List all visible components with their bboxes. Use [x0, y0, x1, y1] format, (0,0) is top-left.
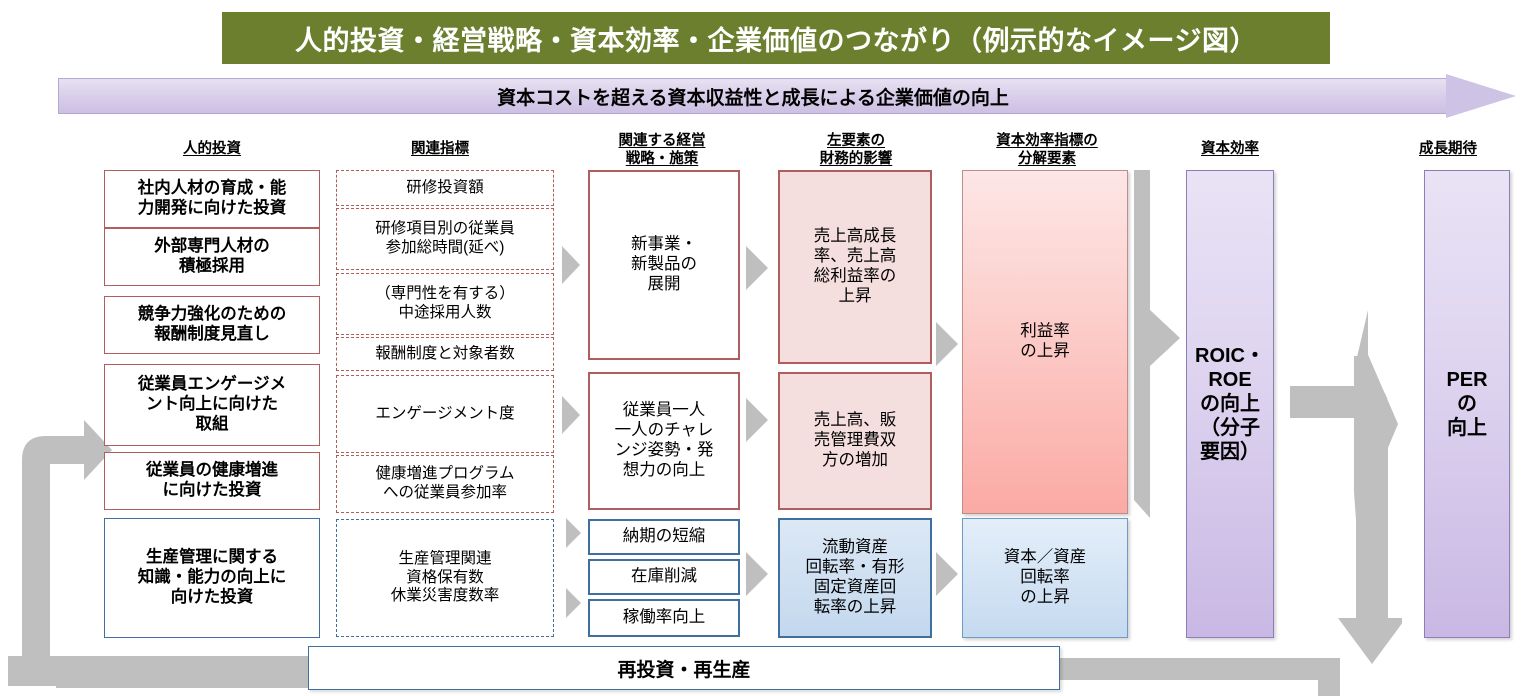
financial-impact-item-2-line3: 方の増加 — [822, 451, 888, 469]
indicator-item-7-line1: 生産管理関連 — [398, 550, 491, 567]
indicator-item-7-line3: 休業災害度数率 — [391, 587, 500, 604]
column-header-strategy-line2: 戦略・施策 — [588, 151, 736, 169]
chevron-icon-financial-to-decomposition-2 — [936, 552, 958, 596]
column-header-strategy-line1: 関連する経営 — [588, 133, 736, 151]
decomposition-item-2[interactable]: 資本／資産 回転率 の上昇 — [962, 518, 1128, 638]
financial-impact-item-3-line4: 転率の上昇 — [814, 598, 897, 616]
indicator-item-3[interactable]: （専門性を有する） 中途採用人数 — [336, 273, 554, 335]
growth-expectation-line3: 向上 — [1447, 417, 1487, 439]
growth-expectation-box[interactable]: PER の 向上 — [1424, 170, 1510, 638]
column-header-financial-impact-line2: 財務的影響 — [782, 151, 930, 169]
indicator-item-5[interactable]: エンゲージメント度 — [336, 375, 554, 453]
indicator-item-2-line2: 参加総時間(延べ) — [386, 239, 505, 256]
reinvest-label-box: 再投資・再生産 — [308, 646, 1060, 690]
top-banner-arrowhead — [1446, 74, 1516, 118]
chevron-icon-indicators-to-strategy-4 — [566, 588, 581, 618]
strategy-item-1-line3: 展開 — [648, 275, 681, 293]
human-capital-item-2[interactable]: 外部専門人材の 積極採用 — [104, 228, 320, 286]
capital-efficiency-line4: （分子 — [1200, 417, 1260, 439]
growth-expectation-line1: PER — [1446, 369, 1487, 391]
chevron-icon-strategy-to-financial-1 — [746, 246, 768, 290]
decomposition-item-1-line2: の上昇 — [1020, 342, 1070, 360]
human-capital-item-5-line2: に向けた投資 — [163, 481, 262, 499]
indicator-item-4-line1: 報酬制度と対象者数 — [337, 345, 553, 364]
strategy-item-5-line1: 稼働率向上 — [590, 608, 738, 628]
indicator-item-7-line2: 資格保有数 — [406, 569, 484, 586]
column-header-related-indicators: 関連指標 — [360, 141, 520, 159]
human-capital-item-6[interactable]: 生産管理に関する 知識・能力の向上に 向けた投資 — [104, 518, 320, 638]
page-title: 人的投資・経営戦略・資本効率・企業価値のつながり（例示的なイメージ図） — [222, 12, 1330, 64]
financial-impact-item-3-line2: 回転率・有形 — [806, 558, 905, 576]
financial-impact-item-2-line2: 売管理費双 — [814, 431, 897, 449]
strategy-item-1-line1: 新事業・ — [631, 235, 697, 253]
column-header-human-capital: 人的投資 — [132, 141, 292, 159]
growth-expectation-line2: の — [1457, 393, 1477, 415]
decomposition-item-2-line1: 資本／資産 — [1004, 548, 1087, 566]
human-capital-item-4-line3: 取組 — [196, 415, 229, 433]
financial-impact-item-3-line1: 流動資産 — [822, 538, 888, 556]
capital-efficiency-line1: ROIC・ — [1195, 345, 1265, 367]
page-title-text: 人的投資・経営戦略・資本効率・企業価値のつながり（例示的なイメージ図） — [295, 19, 1257, 58]
human-capital-item-3[interactable]: 競争力強化のための 報酬制度見直し — [104, 296, 320, 354]
indicator-item-2-line1: 研修項目別の従業員 — [375, 220, 515, 237]
indicator-item-7[interactable]: 生産管理関連 資格保有数 休業災害度数率 — [336, 519, 554, 637]
indicator-item-6-line1: 健康増進プログラム — [375, 465, 514, 482]
human-capital-item-6-line2: 知識・能力の向上に — [138, 568, 287, 586]
human-capital-item-1-line2: 力開発に向けた投資 — [138, 199, 287, 217]
column-header-capital-efficiency: 資本効率 — [1160, 141, 1300, 159]
financial-impact-item-2-line1: 売上高、販 — [814, 411, 897, 429]
indicator-item-2[interactable]: 研修項目別の従業員 参加総時間(延べ) — [336, 208, 554, 270]
strategy-item-4[interactable]: 在庫削減 — [588, 559, 740, 595]
financial-impact-item-1-line2: 率、売上高 — [814, 247, 897, 265]
chevron-icon-indicators-to-strategy-1 — [562, 246, 580, 284]
decomposition-item-2-line3: の上昇 — [1020, 588, 1070, 606]
human-capital-item-3-line1: 競争力強化のための — [138, 305, 287, 323]
indicator-item-5-line1: エンゲージメント度 — [337, 405, 553, 424]
column-header-decomposition-line1: 資本効率指標の — [962, 133, 1132, 151]
column-header-strategy: 関連する経営 戦略・施策 — [588, 133, 736, 168]
financial-impact-item-1-line4: 上昇 — [839, 287, 872, 305]
strategy-item-4-line1: 在庫削減 — [590, 567, 738, 587]
chevron-icon-financial-to-decomposition-1 — [936, 322, 958, 366]
human-capital-item-4[interactable]: 従業員エンゲージメ ント向上に向けた 取組 — [104, 364, 320, 446]
top-banner-body: 資本コストを超える資本収益性と成長による企業価値の向上 — [58, 78, 1448, 114]
indicator-item-6[interactable]: 健康増進プログラム への従業員参加率 — [336, 455, 554, 513]
human-capital-item-2-line1: 外部専門人材の — [154, 237, 270, 255]
human-capital-item-3-line2: 報酬制度見直し — [154, 325, 270, 343]
financial-impact-item-2[interactable]: 売上高、販 売管理費双 方の増加 — [778, 372, 932, 510]
strategy-item-2[interactable]: 従業員一人 一人のチャレ ンジ姿勢・発 想力の向上 — [588, 372, 740, 510]
human-capital-item-6-line1: 生産管理に関する — [146, 548, 278, 566]
chevron-icon-strategy-to-financial-2 — [746, 398, 768, 442]
financial-impact-item-1[interactable]: 売上高成長 率、売上高 総利益率の 上昇 — [778, 170, 932, 364]
reinvest-label-text: 再投資・再生産 — [617, 655, 750, 682]
strategy-item-2-line1: 従業員一人 — [623, 401, 706, 419]
financial-impact-item-3[interactable]: 流動資産 回転率・有形 固定資産回 転率の上昇 — [778, 518, 932, 638]
human-capital-item-6-line3: 向けた投資 — [171, 588, 254, 606]
indicator-item-3-line2: 中途採用人数 — [398, 304, 491, 321]
strategy-item-3[interactable]: 納期の短縮 — [588, 519, 740, 555]
capital-efficiency-line3: の向上 — [1200, 393, 1260, 415]
top-banner-arrow: 資本コストを超える資本収益性と成長による企業価値の向上 — [58, 74, 1516, 118]
capital-efficiency-line2: ROE — [1208, 369, 1251, 391]
indicator-item-1-line1: 研修投資額 — [337, 179, 553, 198]
decomposition-item-1[interactable]: 利益率 の上昇 — [962, 170, 1128, 514]
strategy-item-1-line2: 新製品の — [631, 255, 697, 273]
human-capital-item-4-line1: 従業員エンゲージメ — [138, 375, 286, 393]
column-header-growth-expectation: 成長期待 — [1388, 141, 1508, 159]
column-header-decomposition-line2: 分解要素 — [962, 151, 1132, 169]
bottom-right-loop-arrow — [1040, 648, 1370, 696]
human-capital-item-1-line1: 社内人材の育成・能 — [138, 179, 287, 197]
human-capital-item-4-line2: ント向上に向けた — [146, 395, 278, 413]
indicator-item-4[interactable]: 報酬制度と対象者数 — [336, 337, 554, 371]
decomposition-item-2-line2: 回転率 — [1020, 568, 1070, 586]
strategy-item-1[interactable]: 新事業・ 新製品の 展開 — [588, 170, 740, 360]
top-banner-label: 資本コストを超える資本収益性と成長による企業価値の向上 — [497, 83, 1009, 110]
human-capital-item-2-line2: 積極採用 — [179, 257, 245, 275]
indicator-item-1[interactable]: 研修投資額 — [336, 170, 554, 206]
strategy-item-2-line3: ンジ姿勢・発 — [615, 441, 714, 459]
financial-impact-item-1-line3: 総利益率の — [814, 267, 897, 285]
strategy-item-2-line2: 一人のチャレ — [615, 421, 714, 439]
indicator-item-3-line1: （専門性を有する） — [375, 285, 515, 302]
human-capital-item-5[interactable]: 従業員の健康増進 に向けた投資 — [104, 452, 320, 510]
financial-impact-item-3-line3: 固定資産回 — [814, 578, 897, 596]
indicator-item-6-line2: への従業員参加率 — [383, 484, 507, 501]
strategy-item-2-line4: 想力の向上 — [623, 461, 706, 479]
chevron-icon-indicators-to-strategy-3 — [566, 518, 581, 548]
strategy-item-3-line1: 納期の短縮 — [590, 527, 738, 547]
column-header-financial-impact-line1: 左要素の — [782, 133, 930, 151]
human-capital-item-5-line1: 従業員の健康増進 — [146, 461, 278, 479]
decomposition-item-1-line1: 利益率 — [1020, 322, 1070, 340]
chevron-icon-indicators-to-strategy-2 — [562, 396, 580, 434]
financial-impact-item-1-line1: 売上高成長 — [814, 227, 897, 245]
chevron-icon-strategy-to-financial-3 — [746, 552, 768, 596]
human-capital-item-1[interactable]: 社内人材の育成・能 力開発に向けた投資 — [104, 170, 320, 228]
column-header-decomposition: 資本効率指標の 分解要素 — [962, 133, 1132, 168]
capital-efficiency-box[interactable]: ROIC・ ROE の向上 （分子 要因） — [1186, 170, 1274, 638]
capital-efficiency-line5: 要因） — [1200, 441, 1260, 463]
tapered-arrow-decomposition-to-capital-efficiency — [1128, 170, 1186, 570]
strategy-item-5[interactable]: 稼働率向上 — [588, 599, 740, 637]
column-header-financial-impact: 左要素の 財務的影響 — [782, 133, 930, 168]
